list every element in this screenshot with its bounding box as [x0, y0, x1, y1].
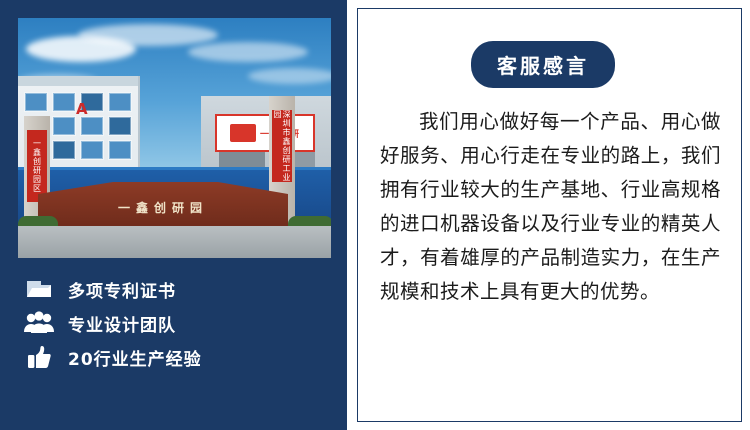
cloud-icon: [188, 42, 308, 62]
company-logo-icon: [230, 124, 256, 142]
feature-label: 20行业生产经验: [68, 345, 202, 370]
feature-item-certificate: 多项专利证书: [22, 272, 322, 306]
feature-item-team: 专业设计团队: [22, 306, 322, 340]
factory-gate-photo: A 一鑫创研 一鑫创研园区 深圳市鑫创研工业园: [18, 18, 331, 258]
window: [52, 116, 76, 136]
cloud-icon: [248, 68, 331, 84]
testimonial-frame: 客服感言 我们用心做好每一个产品、用心做好服务、用心行走在专业的路上，我们拥有行…: [357, 8, 742, 422]
window: [80, 116, 104, 136]
thumbs-up-icon: [22, 342, 56, 372]
testimonial-paragraph: 我们用心做好每一个产品、用心做好服务、用心行走在专业的路上，我们拥有行业较大的生…: [380, 105, 721, 309]
section-title-badge: 客服感言: [471, 41, 615, 88]
promo-banner: A 一鑫创研 一鑫创研园区 深圳市鑫创研工业园: [0, 0, 750, 430]
team-icon: [22, 308, 56, 338]
certificate-icon: [22, 274, 56, 304]
right-panel: 客服感言 我们用心做好每一个产品、用心做好服务、用心行走在专业的路上，我们拥有行…: [347, 0, 750, 430]
window: [24, 92, 48, 112]
entrance-gate: 一鑫创研园: [38, 166, 288, 228]
company-signboard: 一鑫创研: [215, 114, 315, 152]
window: [108, 116, 132, 136]
window: [52, 92, 76, 112]
window: [108, 92, 132, 112]
window: [108, 140, 132, 160]
cloud-icon: [78, 24, 218, 46]
window: [52, 140, 76, 160]
feature-list: 多项专利证书 专业设计团队: [22, 272, 322, 374]
ground-pavement: [18, 226, 331, 258]
window: [80, 140, 104, 160]
gate-name-plate: 一鑫创研园: [68, 196, 258, 218]
building-letter: A: [76, 100, 88, 118]
roofline: [18, 76, 138, 86]
feature-item-experience: 20行业生产经验: [22, 340, 322, 374]
feature-label: 多项专利证书: [68, 277, 176, 302]
left-panel: A 一鑫创研 一鑫创研园区 深圳市鑫创研工业园: [0, 0, 347, 430]
feature-label: 专业设计团队: [68, 311, 176, 336]
